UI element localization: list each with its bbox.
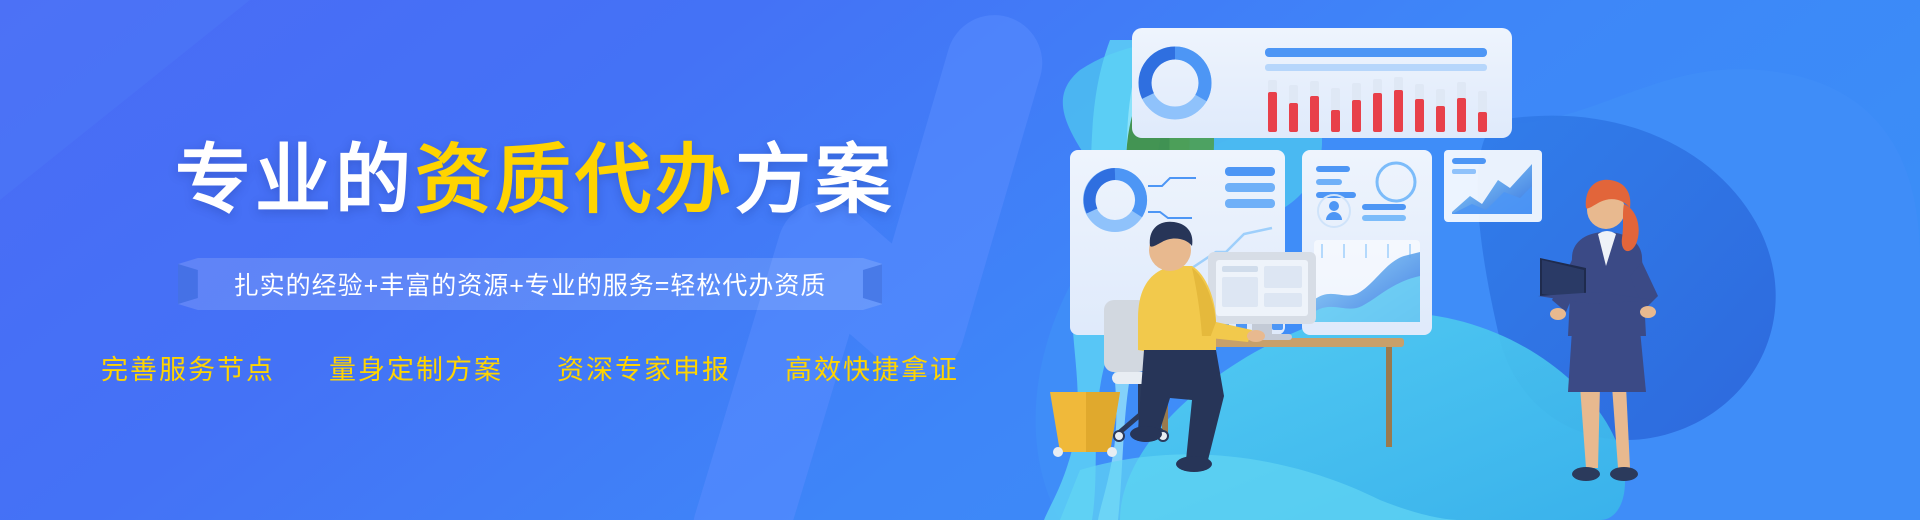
dashboard-card-middle bbox=[1302, 150, 1432, 335]
subtitle-ribbon: 扎实的经验+丰富的资源+专业的服务=轻松代办资质 bbox=[178, 258, 883, 310]
dashboard-card-right bbox=[1444, 150, 1542, 222]
promo-banner: 专业的资质代办方案 扎实的经验+丰富的资源+专业的服务=轻松代办资质 完善服务节… bbox=[0, 0, 1920, 520]
header-bar-0 bbox=[1265, 48, 1487, 57]
title-part-1: 专业的 bbox=[175, 135, 415, 224]
skirt bbox=[1568, 330, 1646, 392]
list-rows bbox=[1225, 167, 1275, 208]
standing-consultant bbox=[1538, 180, 1658, 481]
illustration bbox=[1020, 0, 1920, 520]
feature-item-3: 高效快捷拿证 bbox=[785, 348, 959, 387]
title-part-2: 资质代办 bbox=[415, 135, 735, 224]
legs bbox=[1138, 350, 1224, 460]
feature-item-2: 资深专家申报 bbox=[557, 348, 731, 387]
page-title: 专业的资质代办方案 bbox=[175, 142, 895, 218]
header-bar-1 bbox=[1265, 64, 1487, 71]
feature-item-0: 完善服务节点 bbox=[101, 348, 275, 387]
subtitle-text: 扎实的经验+丰富的资源+专业的服务=轻松代办资质 bbox=[234, 266, 827, 302]
shoe-left bbox=[1572, 467, 1600, 481]
shoe bbox=[1176, 456, 1212, 472]
shoe-2 bbox=[1130, 426, 1162, 442]
feature-item-1: 量身定制方案 bbox=[329, 348, 503, 387]
feature-list: 完善服务节点 量身定制方案 资深专家申报 高效快捷拿证 bbox=[101, 348, 959, 387]
dashboard-card-top bbox=[1132, 28, 1512, 138]
desk-leg bbox=[1386, 347, 1392, 447]
title-part-3: 方案 bbox=[735, 135, 895, 224]
shoe-right bbox=[1610, 467, 1638, 481]
hand bbox=[1247, 330, 1265, 342]
plant-pot bbox=[1050, 392, 1120, 457]
copy-block: 专业的资质代办方案 扎实的经验+丰富的资源+专业的服务=轻松代办资质 完善服务节… bbox=[0, 0, 1060, 520]
